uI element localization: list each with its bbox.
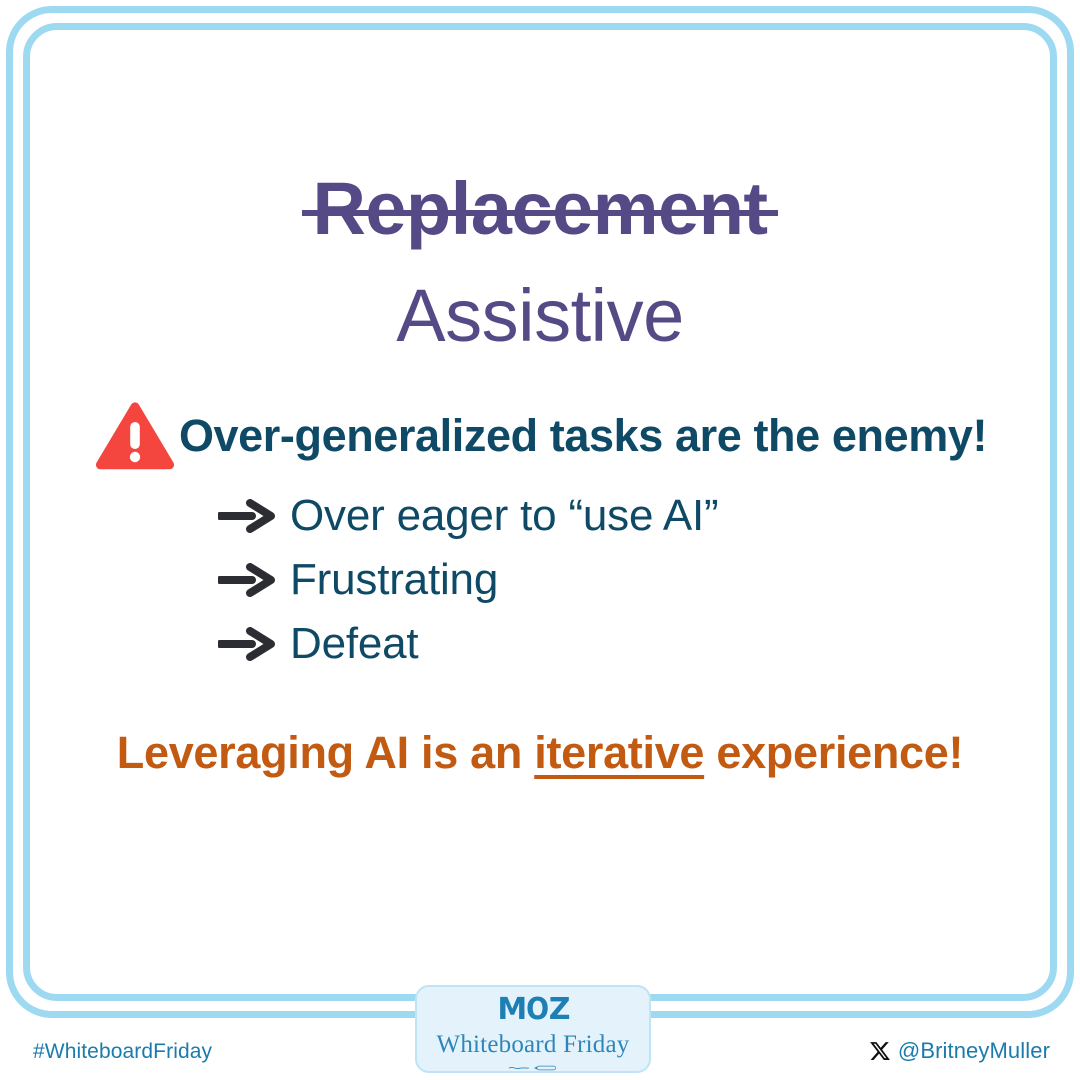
moz-logo: MOZ [497,995,568,1025]
strikethrough-line [302,210,777,216]
list-item-label: Defeat [290,622,418,666]
hashtag-label: #WhiteboardFriday [33,1040,212,1064]
list-item: Over eager to “use AI” [218,484,1018,548]
moz-logo-z: Z [549,992,569,1027]
x-logo-icon [869,1040,891,1062]
list-item: Defeat [218,612,1018,676]
title-block: Replacement Assistive [0,172,1080,353]
social-handle[interactable]: @BritneyMuller [869,1038,1050,1064]
social-handle-label: @BritneyMuller [898,1038,1050,1064]
list-item: Frustrating [218,548,1018,612]
moz-logo-m: M [497,992,525,1027]
moz-logo-o: O [526,995,547,1025]
right-arrow-icon [218,627,276,661]
badge-subtitle: Whiteboard Friday [437,1032,630,1057]
warning-headline-text: Over-generalized tasks are the enemy! [179,413,987,458]
moz-whiteboard-friday-badge[interactable]: MOZ Whiteboard Friday [415,985,651,1073]
right-arrow-icon [218,499,276,533]
closing-emphasis: iterative [534,727,704,778]
main-title: Assistive [0,279,1080,353]
warning-headline: Over-generalized tasks are the enemy! [0,398,1080,472]
closing-statement: Leveraging AI is an iterative experience… [0,730,1080,775]
slide-canvas: Replacement Assistive Over-generalized t… [0,0,1080,1080]
bullet-list: Over eager to “use AI” Frustrating Defea… [218,484,1018,676]
closing-before: Leveraging AI is an [117,727,534,778]
right-arrow-icon [218,563,276,597]
struck-title: Replacement [306,172,773,246]
closing-after: experience! [704,727,963,778]
warning-triangle-icon [93,398,177,472]
struck-title-text: Replacement [312,167,767,250]
list-item-label: Frustrating [290,558,498,602]
list-item-label: Over eager to “use AI” [290,494,718,538]
marker-squiggle-icon [458,1065,608,1071]
